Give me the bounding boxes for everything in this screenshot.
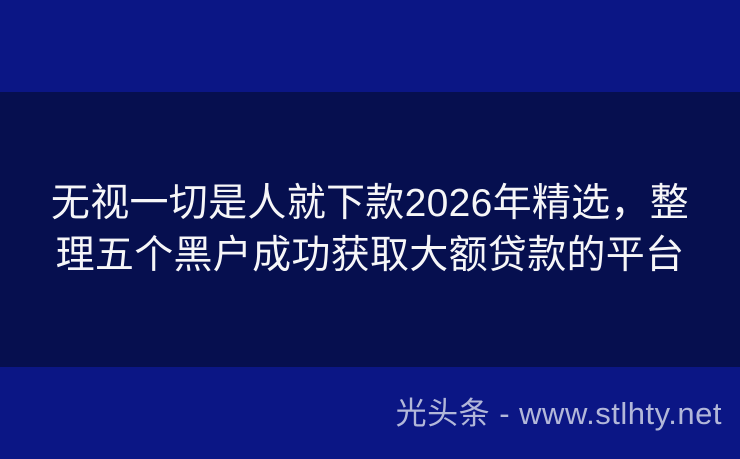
watermark-block: 光头条 - www.stlhty.net — [0, 367, 740, 459]
article-banner: 无视一切是人就下款2026年精选，整 理五个黑户成功获取大额贷款的平台 光头条 … — [0, 0, 740, 459]
watermark-text: 光头条 - www.stlhty.net — [396, 398, 722, 429]
top-blue-band — [0, 0, 740, 92]
headline-line-1: 无视一切是人就下款2026年精选，整 — [51, 178, 689, 230]
headline-block: 无视一切是人就下款2026年精选，整 理五个黑户成功获取大额贷款的平台 — [0, 92, 740, 367]
headline-line-2: 理五个黑户成功获取大额贷款的平台 — [56, 230, 685, 282]
